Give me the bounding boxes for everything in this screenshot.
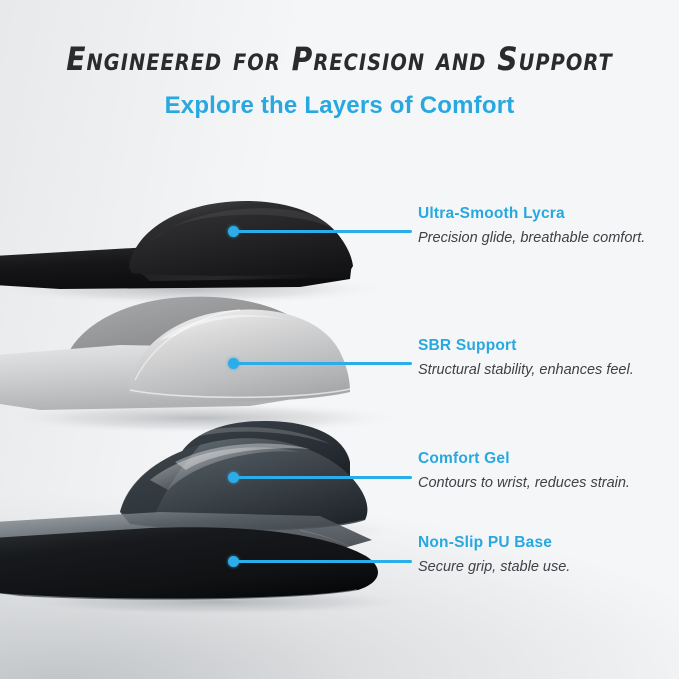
callout-gel: Comfort Gel Contours to wrist, reduces s… <box>418 450 630 493</box>
layer-sbr <box>0 297 405 434</box>
callout-description-gel: Contours to wrist, reduces strain. <box>418 474 630 493</box>
leader-line-pu-base <box>236 560 412 563</box>
infographic-page: Engineered for Precision and Support Exp… <box>0 0 679 679</box>
callout-title-sbr: SBR Support <box>418 337 634 355</box>
callout-title-pu-base: Non-Slip PU Base <box>418 534 570 552</box>
callout-description-sbr: Structural stability, enhances feel. <box>418 361 634 380</box>
callout-sbr: SBR Support Structural stability, enhanc… <box>418 337 634 380</box>
leader-dot-pu-base <box>228 556 239 567</box>
callout-lycra: Ultra-Smooth Lycra Precision glide, brea… <box>418 205 645 248</box>
layer-lycra <box>0 201 390 305</box>
callout-title-lycra: Ultra-Smooth Lycra <box>418 205 645 223</box>
callout-title-gel: Comfort Gel <box>418 450 630 468</box>
callout-description-lycra: Precision glide, breathable comfort. <box>418 229 645 248</box>
callout-description-pu-base: Secure grip, stable use. <box>418 558 570 577</box>
leader-line-gel <box>236 476 412 479</box>
leader-line-sbr <box>236 362 412 365</box>
callout-pu-base: Non-Slip PU Base Secure grip, stable use… <box>418 534 570 577</box>
leader-dot-gel <box>228 472 239 483</box>
leader-line-lycra <box>236 230 412 233</box>
leader-dot-lycra <box>228 226 239 237</box>
leader-dot-sbr <box>228 358 239 369</box>
